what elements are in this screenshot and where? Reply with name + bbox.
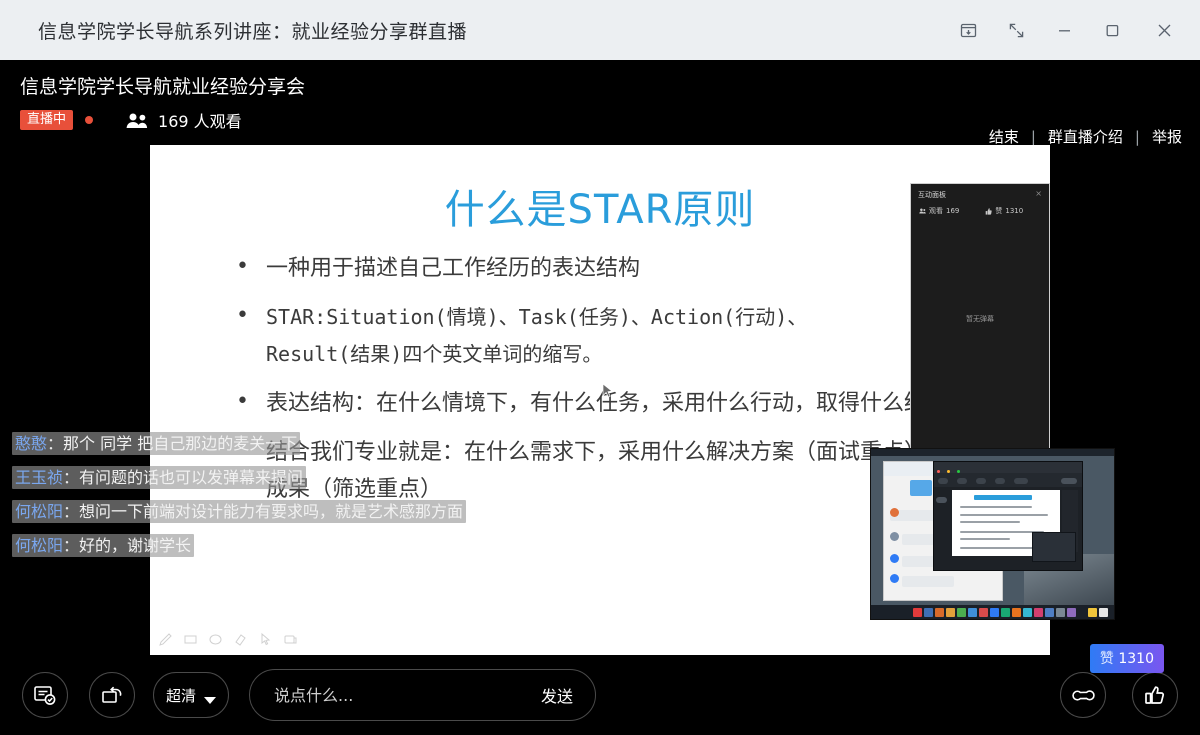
inner-panel-viewers-value: 169 (946, 207, 959, 215)
share-link-button[interactable] (1060, 672, 1106, 718)
like-count-badge: 赞 1310 (1090, 644, 1164, 673)
inner-panel-empty-text: 暂无弹幕 (911, 314, 1049, 324)
link-separator-1: | (1031, 128, 1036, 146)
danmaku-sender: 憨憨 (15, 434, 47, 453)
inner-panel-stats: 观看 169 赞 1310 (919, 206, 1041, 216)
chat-input[interactable] (274, 686, 531, 705)
inner-panel-close-icon: × (1035, 189, 1042, 198)
danmaku-sender: 何松阳 (15, 502, 63, 521)
bullet-text: STAR:Situation(情境)、Task(任务)、Action(行动)、 … (266, 299, 807, 373)
danmaku-message: 何松阳：想问一下前端对设计能力有要求吗，就是艺术感那方面 (12, 500, 482, 524)
recording-dot-icon (85, 116, 93, 124)
chevron-down-icon (204, 697, 216, 704)
mouse-cursor-icon (602, 383, 614, 399)
eraser-icon[interactable] (233, 632, 248, 647)
like-badge-count: 1310 (1118, 651, 1154, 667)
viewer-count-group: 169 人观看 (125, 108, 242, 132)
slide-bullet-item: • 表达结构：在什么情境下，有什么任务，采用什么行动，取得什么结果 (236, 385, 1026, 422)
maximize-icon[interactable] (1088, 0, 1136, 60)
inner-panel-title: 互动面板 (918, 190, 946, 200)
signin-check-button[interactable] (22, 672, 68, 718)
rotate-screen-button[interactable] (89, 672, 135, 718)
danmaku-sender: 王玉祯 (15, 468, 63, 487)
pointer-icon[interactable] (258, 632, 273, 647)
expand-icon[interactable] (992, 0, 1040, 60)
danmaku-separator: ： (63, 536, 79, 555)
bullet-marker-icon: • (236, 299, 266, 333)
inner-panel-likes-label: 赞 (995, 206, 1002, 216)
bullet-marker-icon: • (236, 385, 266, 419)
danmaku-separator: ： (63, 502, 79, 521)
player-control-bar: 超清 发送 (0, 655, 1200, 735)
rectangle-icon[interactable] (183, 632, 198, 647)
danmaku-text: 那个 同学 把自己那边的麦关一下 (63, 434, 297, 453)
live-header: 信息学院学长导航就业经验分享会 直播中 169 人观看 结束 | 群直播介绍 |… (0, 60, 1200, 140)
inner-panel-likes-value: 1310 (1005, 207, 1023, 215)
danmaku-text: 有问题的话也可以发弹幕来提问 (79, 468, 303, 487)
inner-panel-viewers: 观看 169 (919, 206, 959, 216)
close-icon[interactable] (1136, 0, 1192, 60)
danmaku-message: 何松阳：好的，谢谢学长 (12, 534, 482, 558)
quality-label: 超清 (166, 685, 196, 706)
inner-interaction-panel: 互动面板 × 观看 169 赞 1310 暂无弹幕 (910, 183, 1050, 455)
inner-panel-likes: 赞 1310 (985, 206, 1023, 216)
slide-bullet-item: • STAR:Situation(情境)、Task(任务)、Action(行动)… (236, 299, 1026, 373)
danmaku-text: 好的，谢谢学长 (79, 536, 191, 555)
status-badge: 直播中 (20, 110, 73, 131)
danmaku-separator: ： (63, 468, 79, 487)
circle-icon[interactable] (208, 632, 223, 647)
pen-icon[interactable] (158, 632, 173, 647)
header-links: 结束 | 群直播介绍 | 举报 (989, 126, 1182, 147)
viewer-count-label: 169 人观看 (158, 108, 242, 132)
like-badge-label: 赞 (1100, 651, 1114, 667)
bullet-text: 一种用于描述自己工作经历的表达结构 (266, 250, 640, 287)
inner-panel-viewers-label: 观看 (929, 206, 943, 216)
report-link[interactable]: 举报 (1152, 126, 1182, 147)
danmaku-sender: 何松阳 (15, 536, 63, 555)
danmaku-text: 想问一下前端对设计能力有要求吗，就是艺术感那方面 (79, 502, 463, 521)
live-meta: 直播中 169 人观看 (20, 108, 242, 132)
window-controls (944, 0, 1200, 60)
shape-icon[interactable] (283, 632, 298, 647)
danmaku-overlay: 憨憨：那个 同学 把自己那边的麦关一下 王玉祯：有问题的话也可以发弹幕来提问 何… (12, 432, 482, 558)
bottom-right-actions: 赞 1310 (1060, 655, 1178, 735)
chat-input-container[interactable]: 发送 (249, 669, 596, 721)
annotation-toolbar[interactable] (158, 632, 298, 647)
live-stream-window: 信息学院学长导航系列讲座：就业经验分享群直播 (0, 0, 1200, 735)
slide-bullet-item: • 一种用于描述自己工作经历的表达结构 (236, 250, 1026, 287)
danmaku-separator: ： (47, 434, 63, 453)
danmaku-message: 王玉祯：有问题的话也可以发弹幕来提问 (12, 466, 482, 490)
send-button[interactable]: 发送 (541, 683, 573, 707)
link-separator-2: | (1135, 128, 1140, 146)
bullet-marker-icon: • (236, 250, 266, 284)
pip-screen-share-thumbnail[interactable] (870, 448, 1115, 620)
pip-meeting-window (933, 461, 1083, 571)
like-button[interactable] (1132, 672, 1178, 718)
window-pin-icon[interactable] (944, 0, 992, 60)
live-room-title: 信息学院学长导航就业经验分享会 (20, 72, 305, 99)
live-intro-link[interactable]: 群直播介绍 (1048, 126, 1123, 147)
pip-taskbar (871, 605, 1114, 619)
quality-selector[interactable]: 超清 (153, 672, 229, 718)
danmaku-message: 憨憨：那个 同学 把自己那边的麦关一下 (12, 432, 482, 456)
people-icon (125, 112, 149, 129)
end-live-link[interactable]: 结束 (989, 126, 1019, 147)
window-title-bar: 信息学院学长导航系列讲座：就业经验分享群直播 (0, 0, 1200, 60)
window-title: 信息学院学长导航系列讲座：就业经验分享群直播 (38, 17, 467, 44)
minimize-icon[interactable] (1040, 0, 1088, 60)
